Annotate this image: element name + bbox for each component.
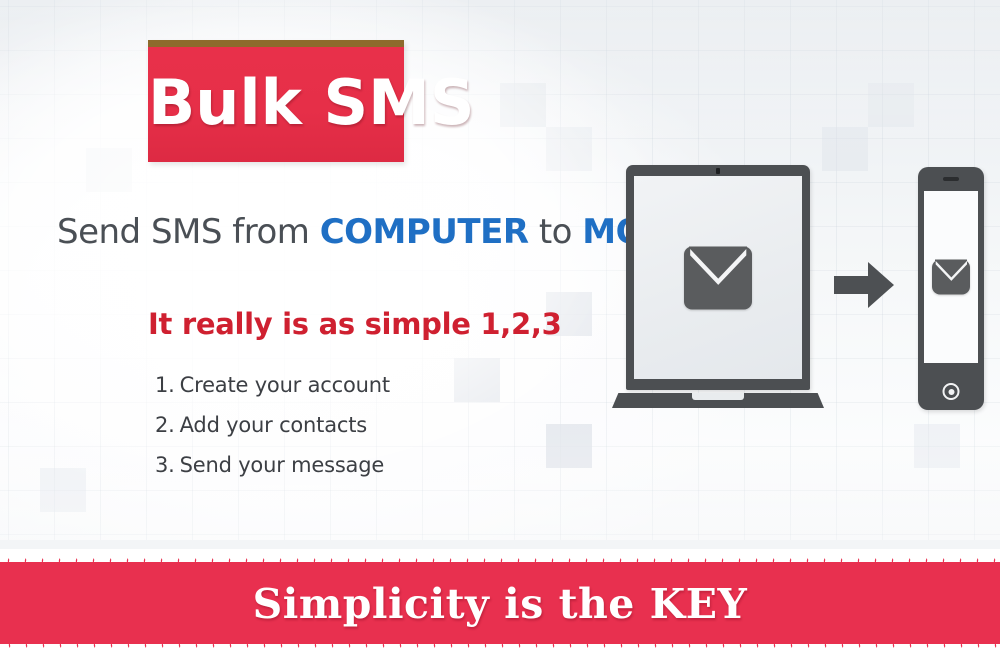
- headline-source: COMPUTER: [320, 212, 529, 252]
- bottom-banner: Simplicity is the KEY: [0, 540, 1000, 667]
- bulk-sms-promo-banner: Bulk SMS Send SMS from COMPUTER to MOBIL…: [0, 0, 1000, 667]
- step-label: Add your contacts: [180, 413, 367, 437]
- step-number: 3.: [155, 453, 175, 477]
- step-number: 1.: [155, 373, 175, 397]
- webcam-icon: [716, 168, 720, 174]
- banner-edge-fill-top: [0, 540, 1000, 549]
- laptop-screen: [634, 176, 802, 379]
- step-number: 2.: [155, 413, 175, 437]
- phone-speaker-icon: [943, 177, 959, 181]
- phone-screen: [924, 191, 978, 363]
- envelope-flap: [689, 246, 747, 285]
- bulk-sms-logo: Bulk SMS: [148, 40, 404, 162]
- arrow-right-icon: [834, 258, 894, 312]
- list-item: 1.Create your account: [155, 373, 390, 397]
- phone-home-button: [943, 383, 960, 400]
- laptop-lid: [626, 165, 810, 390]
- laptop-icon: [612, 165, 824, 417]
- envelope-icon: [932, 260, 970, 295]
- list-item: 3.Send your message: [155, 453, 390, 477]
- laptop-trackpad-notch: [692, 393, 744, 400]
- list-item: 2.Add your contacts: [155, 413, 390, 437]
- banner-slogan: Simplicity is the KEY: [0, 554, 1000, 654]
- headline-middle: to: [529, 212, 583, 252]
- step-label: Send your message: [180, 453, 384, 477]
- headline-prefix: Send SMS from: [57, 212, 320, 252]
- logo-title: Bulk SMS: [148, 47, 404, 162]
- phone-body: [918, 167, 984, 410]
- step-label: Create your account: [180, 373, 390, 397]
- simple-steps-tagline: It really is as simple 1,2,3: [148, 307, 561, 341]
- banner-edge-fill-bottom: [0, 657, 1000, 667]
- steps-list: 1.Create your account 2.Add your contact…: [155, 373, 390, 493]
- envelope-flap: [935, 260, 968, 282]
- envelope-icon: [684, 246, 752, 309]
- mobile-phone-icon: [918, 167, 984, 410]
